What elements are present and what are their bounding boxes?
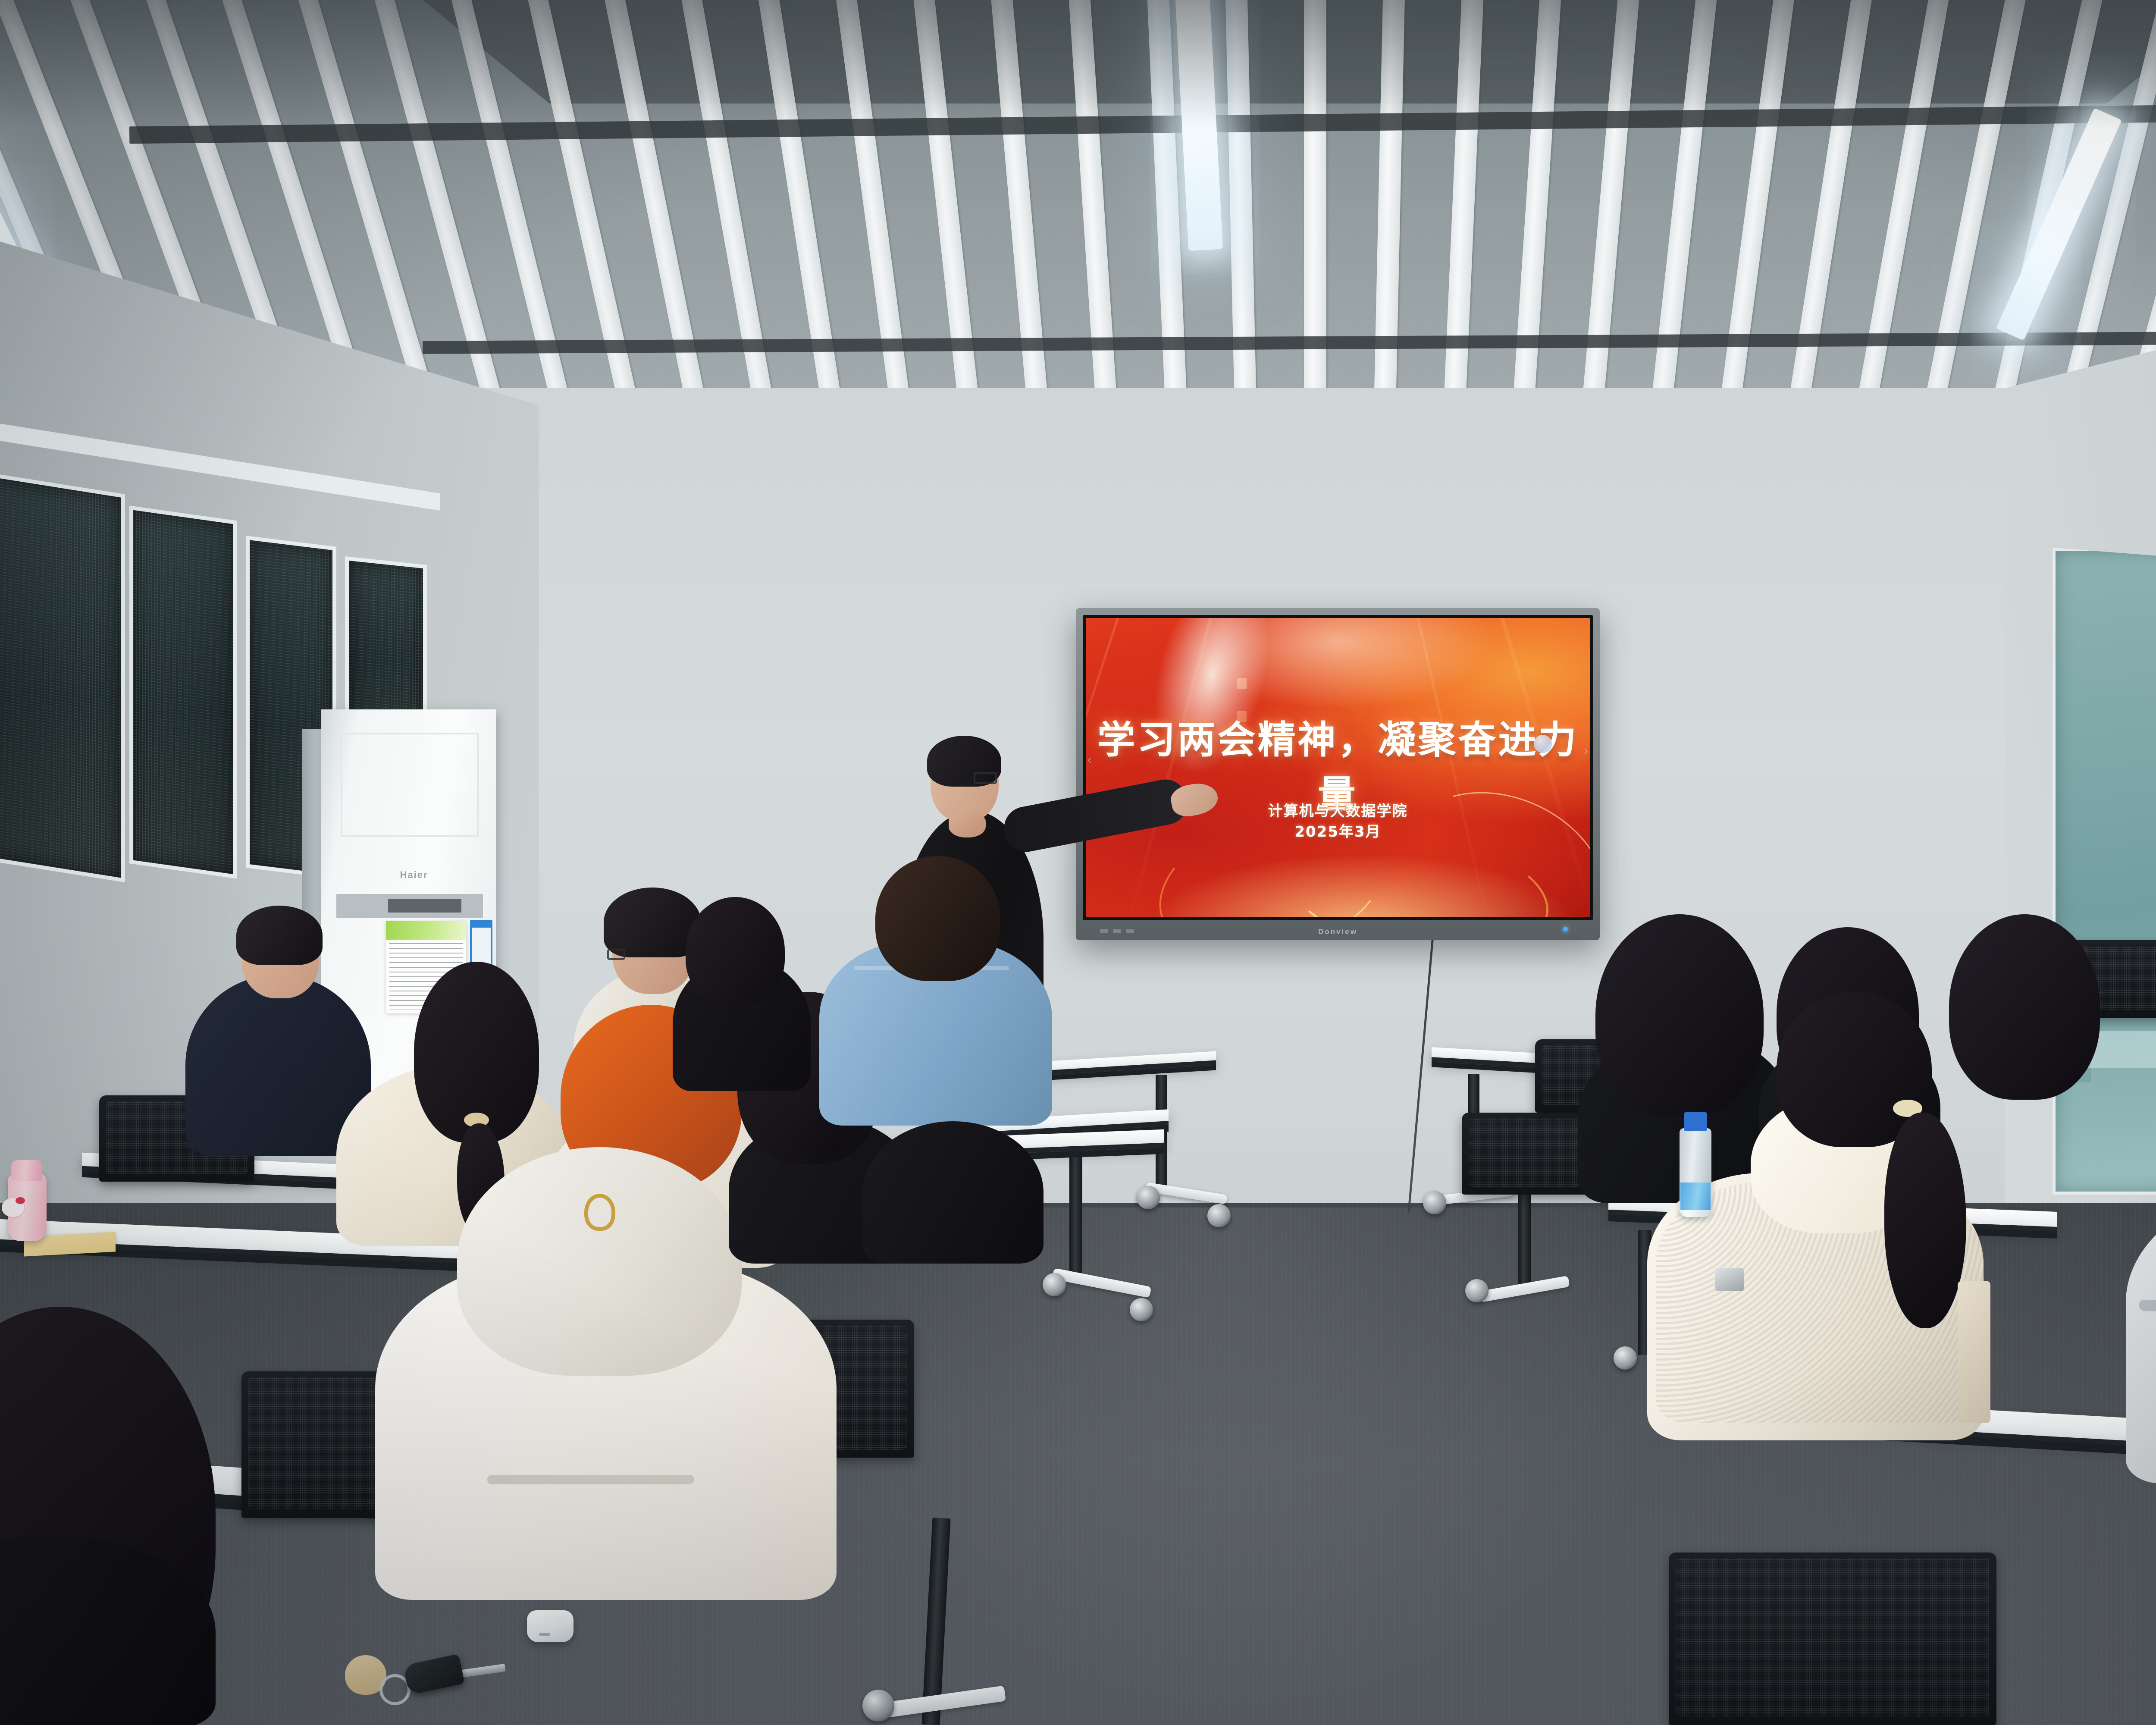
- table-leg: [1069, 1138, 1082, 1281]
- table-caster: [1465, 1279, 1489, 1302]
- table-caster: [1043, 1273, 1066, 1296]
- student-torso: [862, 1121, 1044, 1264]
- student-hair: [1595, 914, 1764, 1117]
- bag-strap: [1958, 1281, 1990, 1423]
- student-hair: [236, 906, 323, 965]
- notice-sheet-header-band: [386, 921, 466, 940]
- sticker-inner-panel: [472, 928, 491, 965]
- display-button[interactable]: [1126, 929, 1134, 933]
- air-conditioner-grille-recess: [341, 733, 479, 837]
- table-caster: [862, 1690, 894, 1722]
- presenter-neck: [949, 813, 986, 837]
- glass-partition: [2053, 548, 2156, 1195]
- student-glasses: [607, 949, 625, 960]
- water-bottle-cap[interactable]: [1684, 1112, 1707, 1131]
- chevron-right-icon[interactable]: ›: [1584, 743, 1588, 758]
- window-mesh-screen: [0, 476, 121, 878]
- slide-accent-square: [1237, 678, 1247, 689]
- presentation-slide: 学习两会精神，凝聚奋进力量 计算机与大数据学院 2025年3月 ‹ ›: [1086, 618, 1590, 917]
- ceiling-foreground-shadow: [0, 0, 2156, 129]
- chair-mesh-back: [1676, 1558, 1990, 1717]
- interactive-display-panel[interactable]: 学习两会精神，凝聚奋进力量 计算机与大数据学院 2025年3月 ‹ › Donv…: [1076, 608, 1600, 940]
- slide-circle-accent: [1534, 735, 1552, 753]
- presenter-glasses: [974, 772, 997, 784]
- hello-kitty-bow-icon: [16, 1197, 25, 1204]
- water-bottle-label: [1680, 1182, 1711, 1210]
- blue-info-sticker: [470, 920, 492, 967]
- student-hair: [686, 897, 785, 1005]
- display-button[interactable]: [1100, 929, 1108, 933]
- floor-light-reflection: [733, 1207, 1725, 1725]
- window-mesh-screen: [133, 510, 233, 875]
- table-caster: [1130, 1298, 1153, 1321]
- bag-buckle: [1715, 1268, 1744, 1291]
- table-caster: [1207, 1204, 1231, 1227]
- display-power-led: [1563, 927, 1568, 931]
- student-hair: [875, 856, 1000, 981]
- table-caster: [1614, 1346, 1637, 1370]
- display-button[interactable]: [1113, 929, 1121, 933]
- display-brand-label: Donview: [1076, 928, 1600, 936]
- student-hair: [1949, 914, 2100, 1100]
- display-bezel-inner: 学习两会精神，凝聚奋进力量 计算机与大数据学院 2025年3月 ‹ ›: [1083, 615, 1593, 920]
- earbuds-case[interactable]: [527, 1610, 573, 1642]
- water-bottle-cap[interactable]: [11, 1160, 42, 1181]
- classroom-photo-scene: Haier: [0, 0, 2156, 1725]
- jacket-seam: [487, 1475, 694, 1484]
- left-window-pane-2: [129, 505, 237, 878]
- table-caster: [1423, 1191, 1446, 1214]
- table-caster: [1137, 1186, 1160, 1209]
- air-conditioner-brand-label: Haier: [388, 869, 440, 881]
- earbuds-case-hinge: [539, 1633, 550, 1636]
- air-conditioner-display: [388, 899, 461, 913]
- student-hood: [457, 1147, 742, 1376]
- chevron-left-icon[interactable]: ‹: [1087, 753, 1092, 767]
- hood-logo-emblem: [584, 1194, 615, 1231]
- left-window-pane-1: [0, 472, 125, 882]
- chair[interactable]: [1669, 1552, 1996, 1725]
